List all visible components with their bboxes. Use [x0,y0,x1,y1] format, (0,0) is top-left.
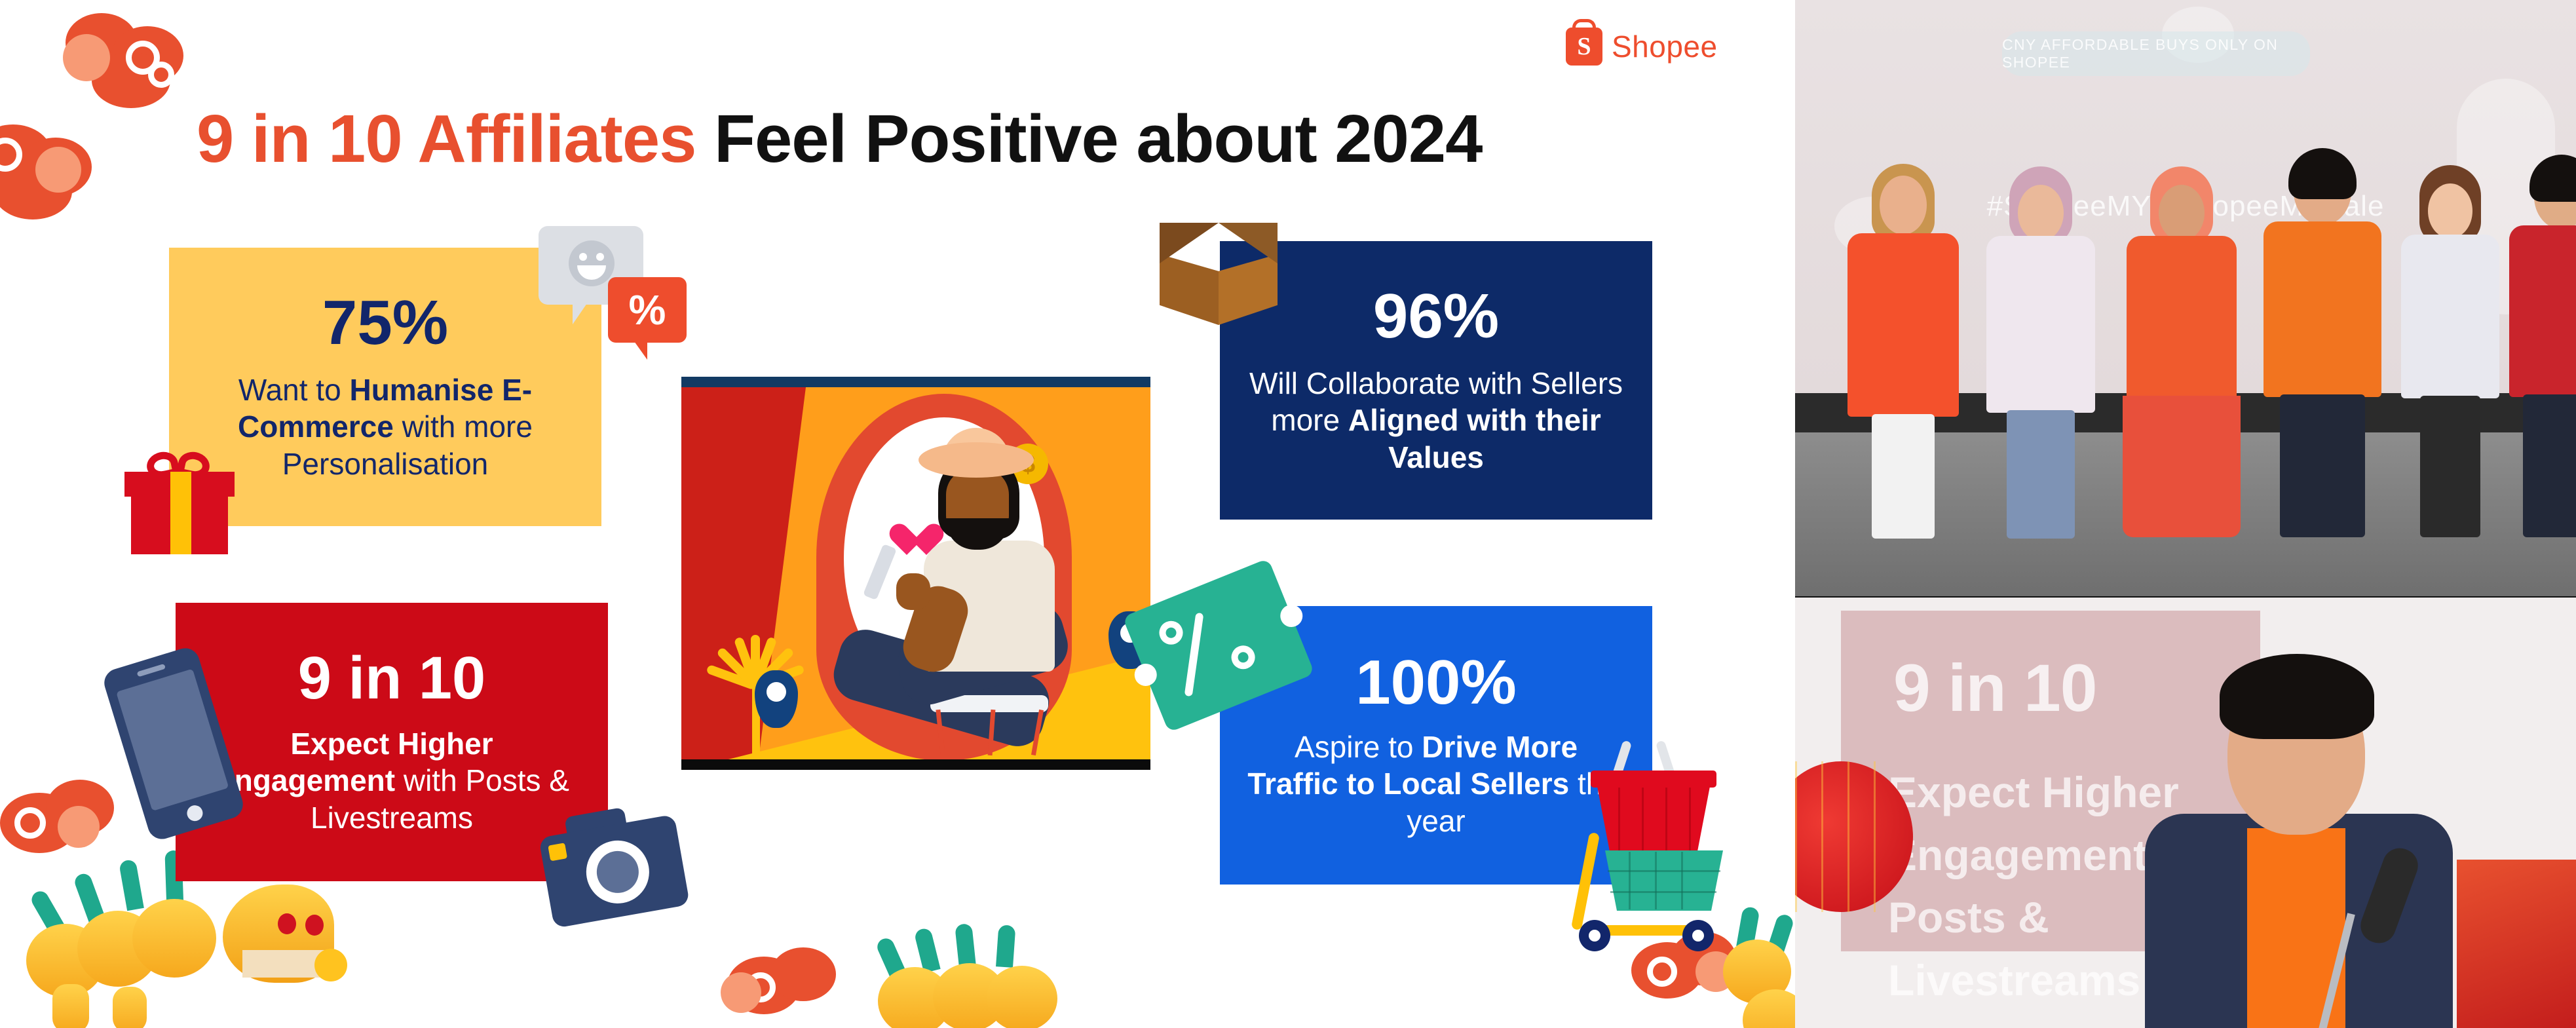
chat-bubble-percent-icon: % [608,277,687,343]
camera-icon [535,795,690,928]
stage-person [1979,170,2103,537]
slide-screenshot-root: S Shopee 9 in 10 Affiliates Feel Positiv… [0,0,2576,1028]
shopee-logo-letter: S [1566,28,1602,66]
heart-icon [890,525,926,559]
stage-person [2503,164,2576,537]
stage-person [2254,157,2391,537]
stat-body-collaborate: Will Collaborate with Sellers more Align… [1246,365,1626,475]
stat-card-collaborate: 96% Will Collaborate with Sellers more A… [1220,241,1652,520]
cny-cloud-decoration-top-left [26,7,197,124]
slide-title: 9 in 10 Affiliates Feel Positive about 2… [197,104,1482,174]
backdrop-banner-text: CNY AFFORDABLE BUYS ONLY ON SHOPEE [2002,31,2310,76]
event-photo-group-on-stage: CNY AFFORDABLE BUYS ONLY ON SHOPEE #Shop… [1795,0,2576,596]
cny-cloud-decoration-left [0,111,144,229]
stat-value-96: 96% [1373,285,1499,348]
cny-poster-board [2457,860,2576,1028]
shopee-wordmark: Shopee [1612,29,1718,64]
gift-box-icon [122,452,240,557]
event-photo-speaker-at-podium: 9 in 10 Expect Higher Engagement with Po… [1795,598,2576,1028]
smiley-face-icon [569,240,615,286]
stat-text-bold: Aligned with their Values [1348,403,1601,474]
cny-cloud-decoration-bottom-center [721,943,878,1028]
stat-body-humanise: Want to Humanise E-Commerce with more Pe… [195,371,575,482]
stage-person [2391,170,2509,537]
stat-value-75: 75% [322,292,448,354]
stat-value-100: 100% [1355,651,1517,714]
shopee-logo: S Shopee [1566,28,1718,66]
slide-title-accent: 9 in 10 Affiliates [197,101,696,176]
projected-slide-heading: 9 in 10 [1893,650,2097,727]
stage-person [2116,170,2247,537]
slide-title-rest: Feel Positive about 2024 [696,101,1482,176]
stat-text-plain: Aspire to [1295,730,1422,764]
cny-dragon-decoration-bottom-center [878,943,1166,1028]
chat-bubble-group: % [539,226,715,377]
presentation-slide: S Shopee 9 in 10 Affiliates Feel Positiv… [0,0,1795,1028]
stat-value-9-in-10: 9 in 10 [298,648,485,708]
shopee-bag-icon: S [1566,28,1602,66]
stage-person [1841,170,1965,537]
parcel-box-icon [1160,223,1278,341]
stat-body-engagement: Expect Higher Engagement with Posts & Li… [202,725,582,835]
affiliate-illustration: $ [681,377,1150,770]
stat-text-plain: Want to [238,373,350,407]
event-photo-column: CNY AFFORDABLE BUYS ONLY ON SHOPEE #Shop… [1795,0,2576,1028]
shopping-cart-icon [1571,832,1735,957]
stat-body-traffic: Aspire to Drive More Traffic to Local Se… [1246,729,1626,839]
